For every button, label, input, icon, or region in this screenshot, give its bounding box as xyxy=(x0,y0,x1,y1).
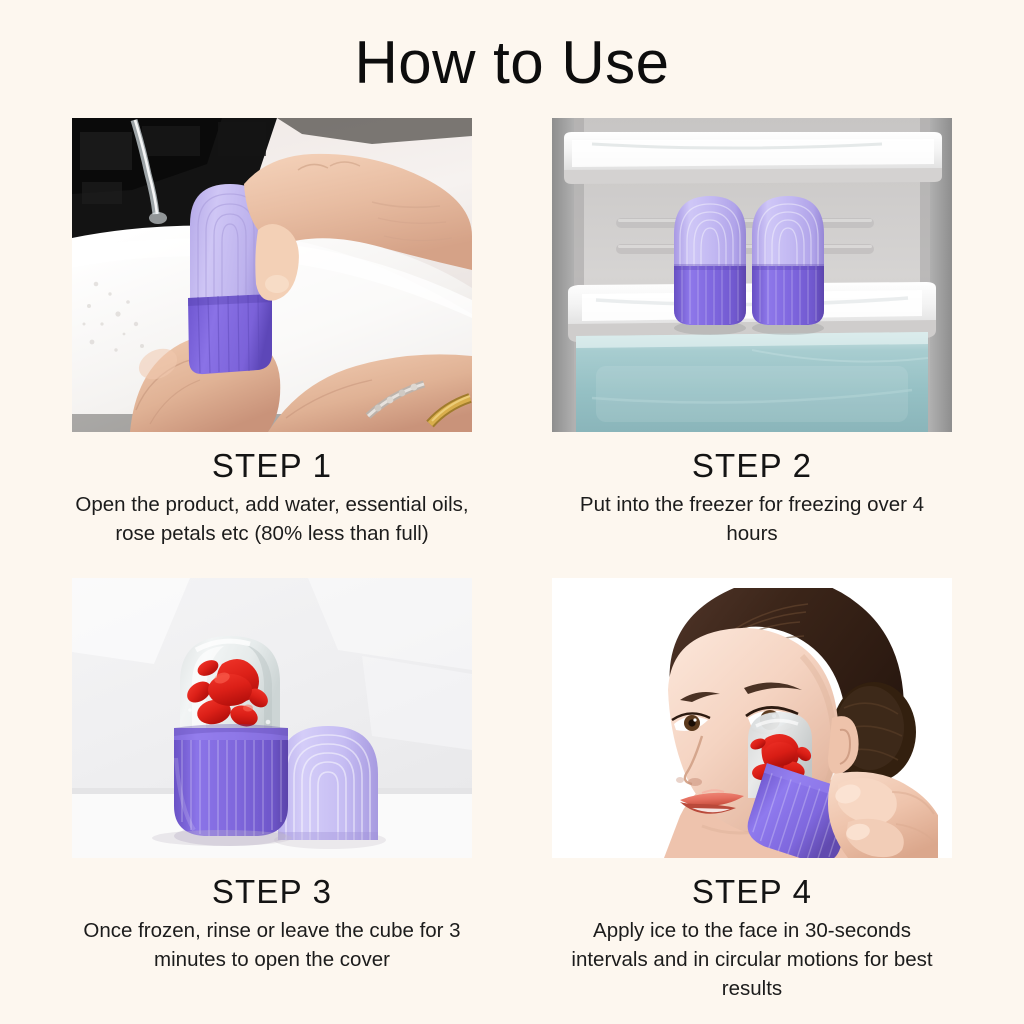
step-2-photo xyxy=(552,118,952,432)
step-card-1: STEP 1 Open the product, add water, esse… xyxy=(72,118,472,548)
step-4-description: Apply ice to the face in 30-seconds inte… xyxy=(552,916,952,1003)
ice-rollers-in-freezer-illustration xyxy=(552,118,952,432)
woman-applying-ice-roller-to-cheek-illustration xyxy=(552,578,952,858)
step-2-description: Put into the freezer for freezing over 4… xyxy=(552,490,952,548)
step-card-3: STEP 3 Once frozen, rinse or leave the c… xyxy=(72,578,472,974)
frozen-cube-with-rose-petals-illustration xyxy=(72,578,472,858)
step-2-label: STEP 2 xyxy=(552,446,952,486)
step-card-2: STEP 2 Put into the freezer for freezing… xyxy=(552,118,952,548)
step-4-photo xyxy=(552,578,952,858)
hands-rinsing-ice-roller-under-tap-illustration xyxy=(72,118,472,432)
step-3-description: Once frozen, rinse or leave the cube for… xyxy=(72,916,472,974)
page-title: How to Use xyxy=(0,27,1024,99)
step-card-4: STEP 4 Apply ice to the face in 30-secon… xyxy=(552,578,952,1003)
step-1-photo xyxy=(72,118,472,432)
step-1-label: STEP 1 xyxy=(72,446,472,486)
step-1-description: Open the product, add water, essential o… xyxy=(72,490,472,548)
how-to-use-infographic: How to Use xyxy=(0,0,1024,1024)
step-4-label: STEP 4 xyxy=(552,872,952,912)
step-3-label: STEP 3 xyxy=(72,872,472,912)
step-3-photo xyxy=(72,578,472,858)
